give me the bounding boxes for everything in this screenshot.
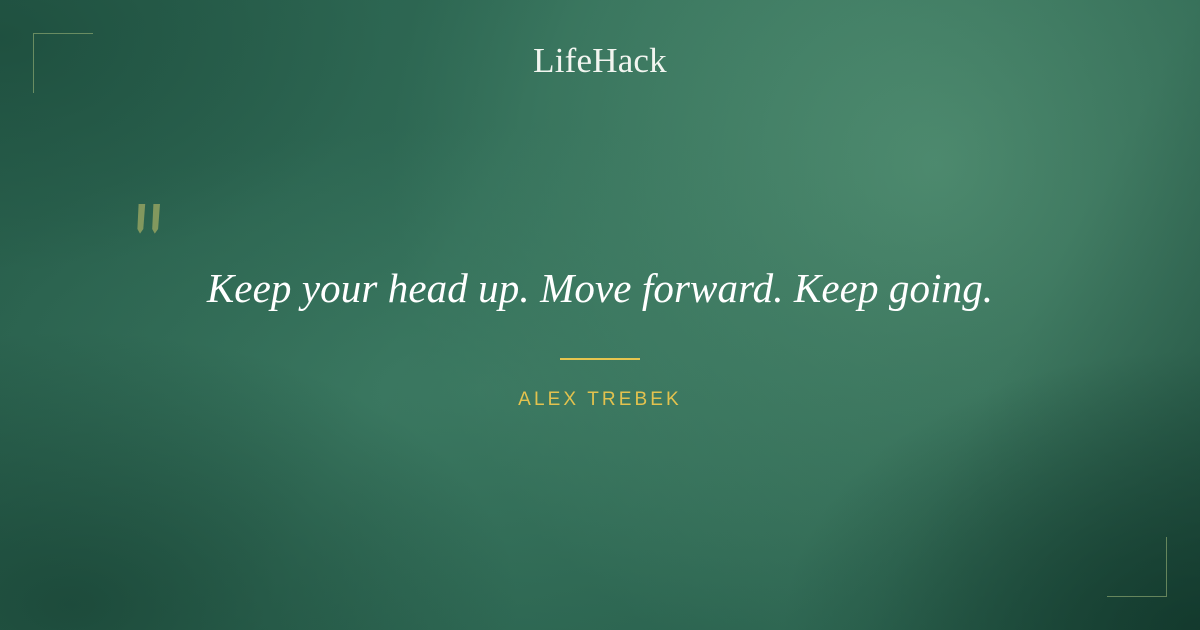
quote-divider xyxy=(560,358,640,360)
brand-logo: LifeHack xyxy=(0,42,1200,81)
quote-block: Keep your head up. Move forward. Keep go… xyxy=(0,262,1200,315)
quote-card: LifeHack Keep your head up. Move forward… xyxy=(0,0,1200,630)
quote-author: ALEX TREBEK xyxy=(0,389,1200,411)
quote-text: Keep your head up. Move forward. Keep go… xyxy=(60,262,1140,315)
quotation-mark-icon xyxy=(134,202,174,242)
